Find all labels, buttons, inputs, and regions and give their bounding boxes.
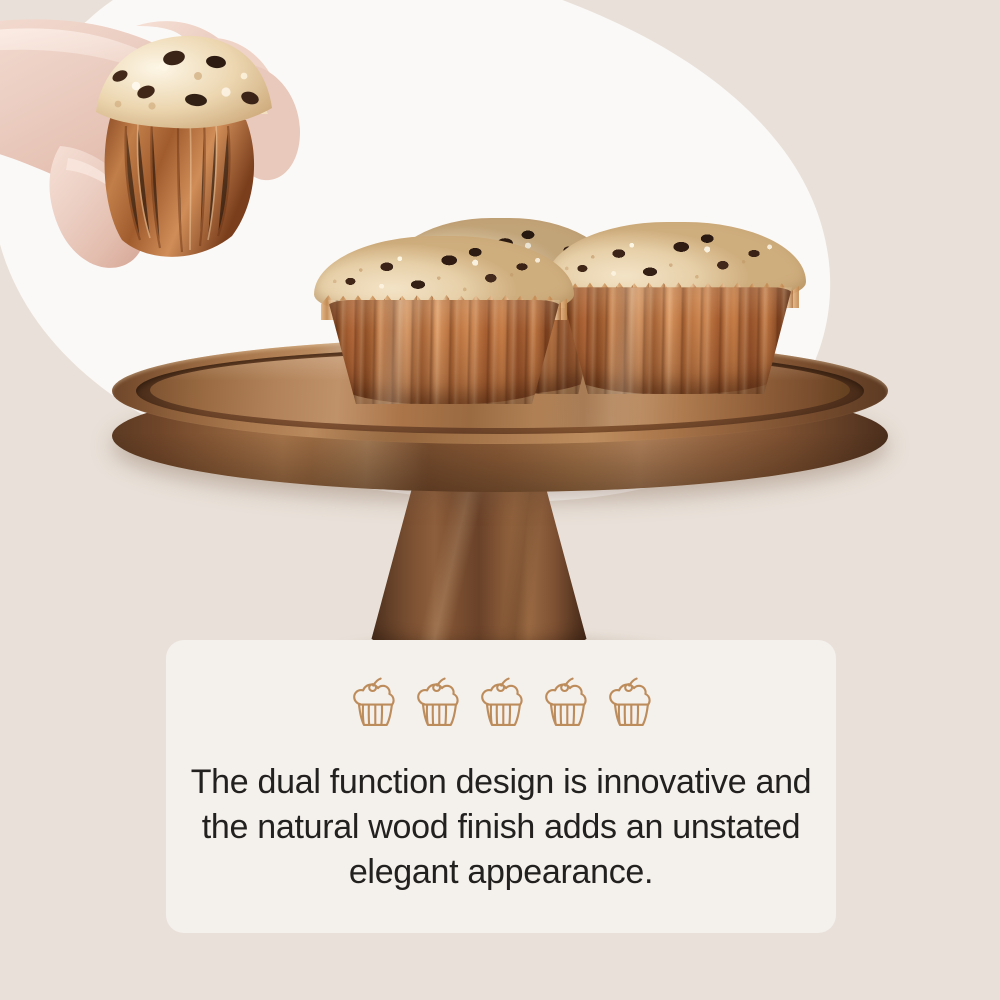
product-review-banner: The dual function design is innovative a… <box>0 0 1000 1000</box>
review-quote: The dual function design is innovative a… <box>181 760 821 895</box>
muffin-wrapper <box>328 300 560 404</box>
muffin-wrapper <box>560 287 792 394</box>
hand-holding-muffin <box>0 0 380 310</box>
cupcake-icon[interactable] <box>540 674 590 730</box>
review-card: The dual function design is innovative a… <box>166 640 836 933</box>
muffin-icon <box>560 222 792 394</box>
product-scene <box>0 0 1000 680</box>
cupcake-icon[interactable] <box>604 674 654 730</box>
rating-cupcakes <box>348 674 654 730</box>
cupcake-icon[interactable] <box>476 674 526 730</box>
cake-stand-pedestal <box>368 470 590 652</box>
cupcake-icon[interactable] <box>348 674 398 730</box>
cupcake-icon[interactable] <box>412 674 462 730</box>
